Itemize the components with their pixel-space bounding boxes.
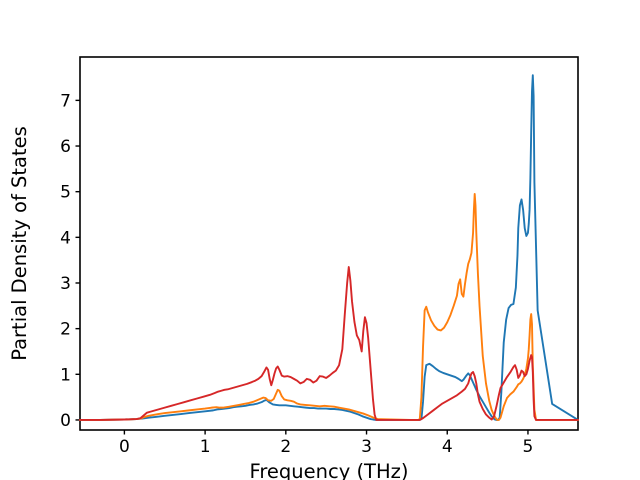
figure-canvas: 012345 01234567 Frequency (THz) Partial … <box>0 0 640 480</box>
series-line-atom-2 <box>80 194 578 420</box>
y-tick-label: 6 <box>60 137 71 157</box>
x-axis-ticks: 012345 <box>119 430 533 457</box>
data-series-group <box>80 75 578 420</box>
pdos-line-chart: 012345 01234567 Frequency (THz) Partial … <box>0 0 640 480</box>
y-tick-label: 7 <box>60 91 71 111</box>
y-tick-label: 1 <box>60 365 71 385</box>
y-tick-label: 2 <box>60 320 71 340</box>
x-tick-label: 3 <box>361 437 372 457</box>
x-tick-label: 4 <box>442 437 453 457</box>
y-tick-label: 0 <box>60 411 71 431</box>
x-tick-label: 2 <box>280 437 291 457</box>
axes-spines <box>80 57 578 430</box>
y-axis-ticks: 01234567 <box>60 91 80 431</box>
series-line-atom-1 <box>80 75 578 420</box>
y-tick-label: 4 <box>60 228 71 248</box>
y-tick-label: 3 <box>60 274 71 294</box>
x-tick-label: 1 <box>200 437 211 457</box>
plot-frame <box>80 57 578 430</box>
x-axis-title: Frequency (THz) <box>250 460 409 480</box>
y-tick-label: 5 <box>60 183 71 203</box>
y-axis-title: Partial Density of States <box>8 126 31 361</box>
x-tick-label: 5 <box>523 437 534 457</box>
x-tick-label: 0 <box>119 437 130 457</box>
